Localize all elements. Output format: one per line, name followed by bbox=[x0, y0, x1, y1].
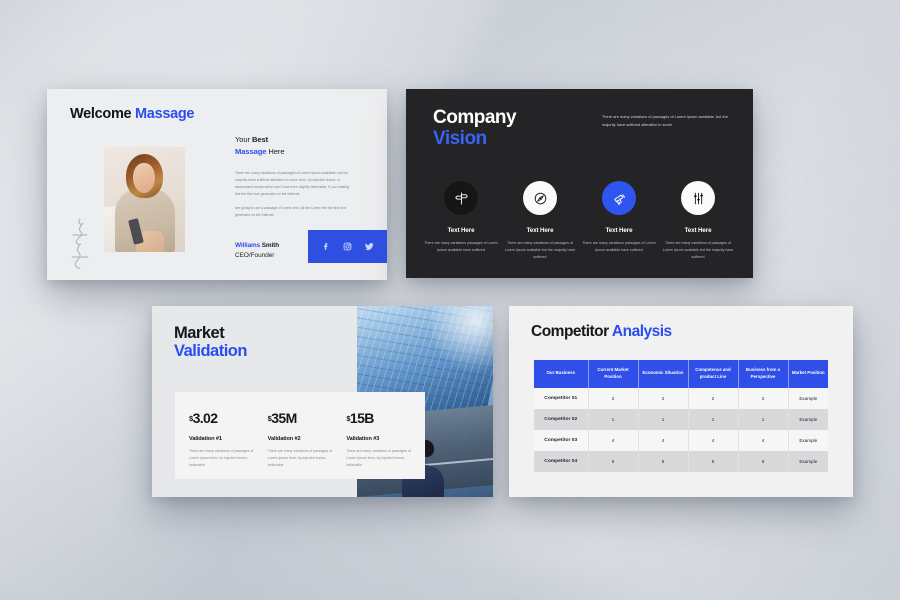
row-1-cell-3: 2 bbox=[688, 388, 738, 409]
welcome-right-column: Your Best Massage Here There are many va… bbox=[235, 134, 353, 220]
table-row[interactable]: Competitor 01 2 2 2 2 Example bbox=[534, 388, 828, 409]
instagram-icon[interactable] bbox=[342, 241, 353, 252]
welcome-paragraph-2: are going to use a passage of Lorem text… bbox=[235, 205, 353, 219]
column-header-market-position[interactable]: Market Position bbox=[788, 360, 828, 388]
stat-3-value: $15B bbox=[346, 411, 425, 425]
vision-card-2-heading: Text Here bbox=[503, 227, 577, 234]
vision-icon-circle-3 bbox=[602, 181, 636, 215]
stat-1-value: $3.02 bbox=[189, 411, 268, 425]
person-lastname: Smith bbox=[260, 242, 279, 249]
stat-1-number: 3.02 bbox=[193, 410, 218, 426]
market-title: MarketValidation bbox=[174, 324, 247, 360]
row-2-cell-3: 1 bbox=[688, 409, 738, 430]
welcome-title: Welcome Massage bbox=[70, 106, 194, 122]
vision-title: CompanyVision bbox=[433, 108, 516, 149]
stat-1-label: Validation #1 bbox=[189, 436, 268, 442]
market-stats-panel: $3.02 Validation #1 There are many varia… bbox=[175, 392, 425, 479]
column-header-business-perspective[interactable]: Business from a Perspective bbox=[738, 360, 788, 388]
row-2-cell-5: Example bbox=[788, 409, 828, 430]
slide-company-vision[interactable]: CompanyVision There are many variations … bbox=[406, 89, 753, 278]
vision-title-line1: Company bbox=[433, 107, 516, 128]
vision-card-4[interactable]: Text Here There are many variations of p… bbox=[661, 181, 735, 261]
competitor-title-plain: Competitor bbox=[531, 323, 612, 340]
row-1-cell-4: 2 bbox=[738, 388, 788, 409]
stat-1-body: There are many variations of passages of… bbox=[189, 448, 256, 469]
vision-card-1-heading: Text Here bbox=[424, 227, 498, 234]
stat-card-2: $35M Validation #2 There are many variat… bbox=[268, 411, 347, 479]
row-3-name: Competitor 03 bbox=[534, 430, 588, 451]
vision-intro-paragraph: There are many variations of passages of… bbox=[602, 113, 730, 128]
row-2-cell-1: 1 bbox=[588, 409, 638, 430]
person-role: CEO/Founder bbox=[235, 252, 279, 259]
welcome-person-block: Williams Smith CEO/Founder bbox=[235, 242, 279, 259]
person-firstname: Williams bbox=[235, 242, 260, 249]
row-3-cell-2: 4 bbox=[638, 430, 688, 451]
vision-card-2[interactable]: Text Here There are many variations of p… bbox=[503, 181, 577, 261]
welcome-subheading: Your Best Massage Here bbox=[235, 134, 353, 158]
vision-card-4-heading: Text Here bbox=[661, 227, 735, 234]
handwritten-signature bbox=[69, 215, 91, 277]
stat-3-label: Validation #3 bbox=[346, 436, 425, 442]
market-title-line1: Market bbox=[174, 324, 224, 342]
sliders-icon bbox=[691, 191, 706, 206]
vision-card-3-heading: Text Here bbox=[582, 227, 656, 234]
row-4-cell-5: Example bbox=[788, 451, 828, 472]
person-name: Williams Smith bbox=[235, 242, 279, 249]
competitor-table[interactable]: Our Business Current Market Position Eco… bbox=[534, 360, 828, 472]
sky-glow-shape bbox=[432, 306, 493, 379]
vision-icon-circle-4 bbox=[681, 181, 715, 215]
slide-market-validation[interactable]: MarketValidation $3.02 Validation #1 The… bbox=[152, 306, 493, 497]
stat-3-number: 15B bbox=[350, 410, 374, 426]
facebook-icon[interactable] bbox=[320, 241, 331, 252]
row-4-cell-4: 6 bbox=[738, 451, 788, 472]
row-4-cell-3: 6 bbox=[688, 451, 738, 472]
stat-2-value: $35M bbox=[268, 411, 347, 425]
row-1-cell-5: Example bbox=[788, 388, 828, 409]
row-4-name: Competitor 04 bbox=[534, 451, 588, 472]
row-4-cell-1: 6 bbox=[588, 451, 638, 472]
vision-card-3-body: There are many variations passages of Lo… bbox=[582, 240, 656, 254]
vision-title-line2: Vision bbox=[433, 129, 516, 150]
social-links-bar[interactable] bbox=[308, 230, 387, 263]
stat-2-label: Validation #2 bbox=[268, 436, 347, 442]
target-compass-icon bbox=[533, 191, 548, 206]
table-row[interactable]: Competitor 04 6 6 6 6 Example bbox=[534, 451, 828, 472]
table-row[interactable]: Competitor 02 1 1 1 1 Example bbox=[534, 409, 828, 430]
stat-card-1: $3.02 Validation #1 There are many varia… bbox=[189, 411, 268, 479]
market-title-line2: Validation bbox=[174, 342, 247, 360]
vision-icon-circle-1 bbox=[444, 181, 478, 215]
subheading-line2-highlight: Massage bbox=[235, 147, 266, 156]
vision-card-4-body: There are many variations of passages of… bbox=[661, 240, 735, 261]
row-1-cell-2: 2 bbox=[638, 388, 688, 409]
vision-card-row: Text Here There are many variations pass… bbox=[424, 181, 735, 261]
vision-card-2-body: There are many variations of passages of… bbox=[503, 240, 577, 261]
signpost-icon bbox=[454, 191, 469, 206]
row-4-cell-2: 6 bbox=[638, 451, 688, 472]
row-2-name: Competitor 02 bbox=[534, 409, 588, 430]
vision-card-1[interactable]: Text Here There are many variations pass… bbox=[424, 181, 498, 261]
column-header-competence-product-line[interactable]: Competence and product Line bbox=[688, 360, 738, 388]
row-2-cell-4: 1 bbox=[738, 409, 788, 430]
stat-3-body: There are many variations of passages of… bbox=[346, 448, 413, 469]
competitor-title-highlight: Analysis bbox=[612, 323, 672, 340]
welcome-title-highlight: Massage bbox=[135, 106, 194, 122]
table-header-row: Our Business Current Market Position Eco… bbox=[534, 360, 828, 388]
stat-2-number: 35M bbox=[271, 410, 296, 426]
subheading-line1-plain: Your bbox=[235, 135, 252, 144]
column-header-economic-situation[interactable]: Economic Situation bbox=[638, 360, 688, 388]
column-header-current-market-position[interactable]: Current Market Position bbox=[588, 360, 638, 388]
row-3-cell-1: 4 bbox=[588, 430, 638, 451]
row-2-cell-2: 1 bbox=[638, 409, 688, 430]
twitter-icon[interactable] bbox=[364, 241, 375, 252]
stat-2-body: There are many variations of passages of… bbox=[268, 448, 335, 469]
subheading-line2-plain: Here bbox=[266, 147, 284, 156]
table-row[interactable]: Competitor 03 4 4 4 4 Example bbox=[534, 430, 828, 451]
slide-competitor-analysis[interactable]: Competitor Analysis Our Business Current… bbox=[509, 306, 853, 497]
row-3-cell-4: 4 bbox=[738, 430, 788, 451]
row-1-cell-1: 2 bbox=[588, 388, 638, 409]
vision-card-1-body: There are many variations passages of Lo… bbox=[424, 240, 498, 254]
welcome-paragraph-1: There are many variations of passages of… bbox=[235, 170, 353, 199]
welcome-title-plain: Welcome bbox=[70, 106, 135, 122]
row-3-cell-3: 4 bbox=[688, 430, 738, 451]
competitor-title: Competitor Analysis bbox=[531, 323, 672, 341]
telescope-icon bbox=[612, 191, 627, 206]
vision-icon-circle-2 bbox=[523, 181, 557, 215]
column-header-our-business[interactable]: Our Business bbox=[534, 360, 588, 388]
vision-card-3[interactable]: Text Here There are many variations pass… bbox=[582, 181, 656, 261]
welcome-photo bbox=[104, 147, 185, 252]
row-1-name: Competitor 01 bbox=[534, 388, 588, 409]
subheading-line1-bold: Best bbox=[252, 135, 268, 144]
row-3-cell-5: Example bbox=[788, 430, 828, 451]
stat-card-3: $15B Validation #3 There are many variat… bbox=[346, 411, 425, 479]
